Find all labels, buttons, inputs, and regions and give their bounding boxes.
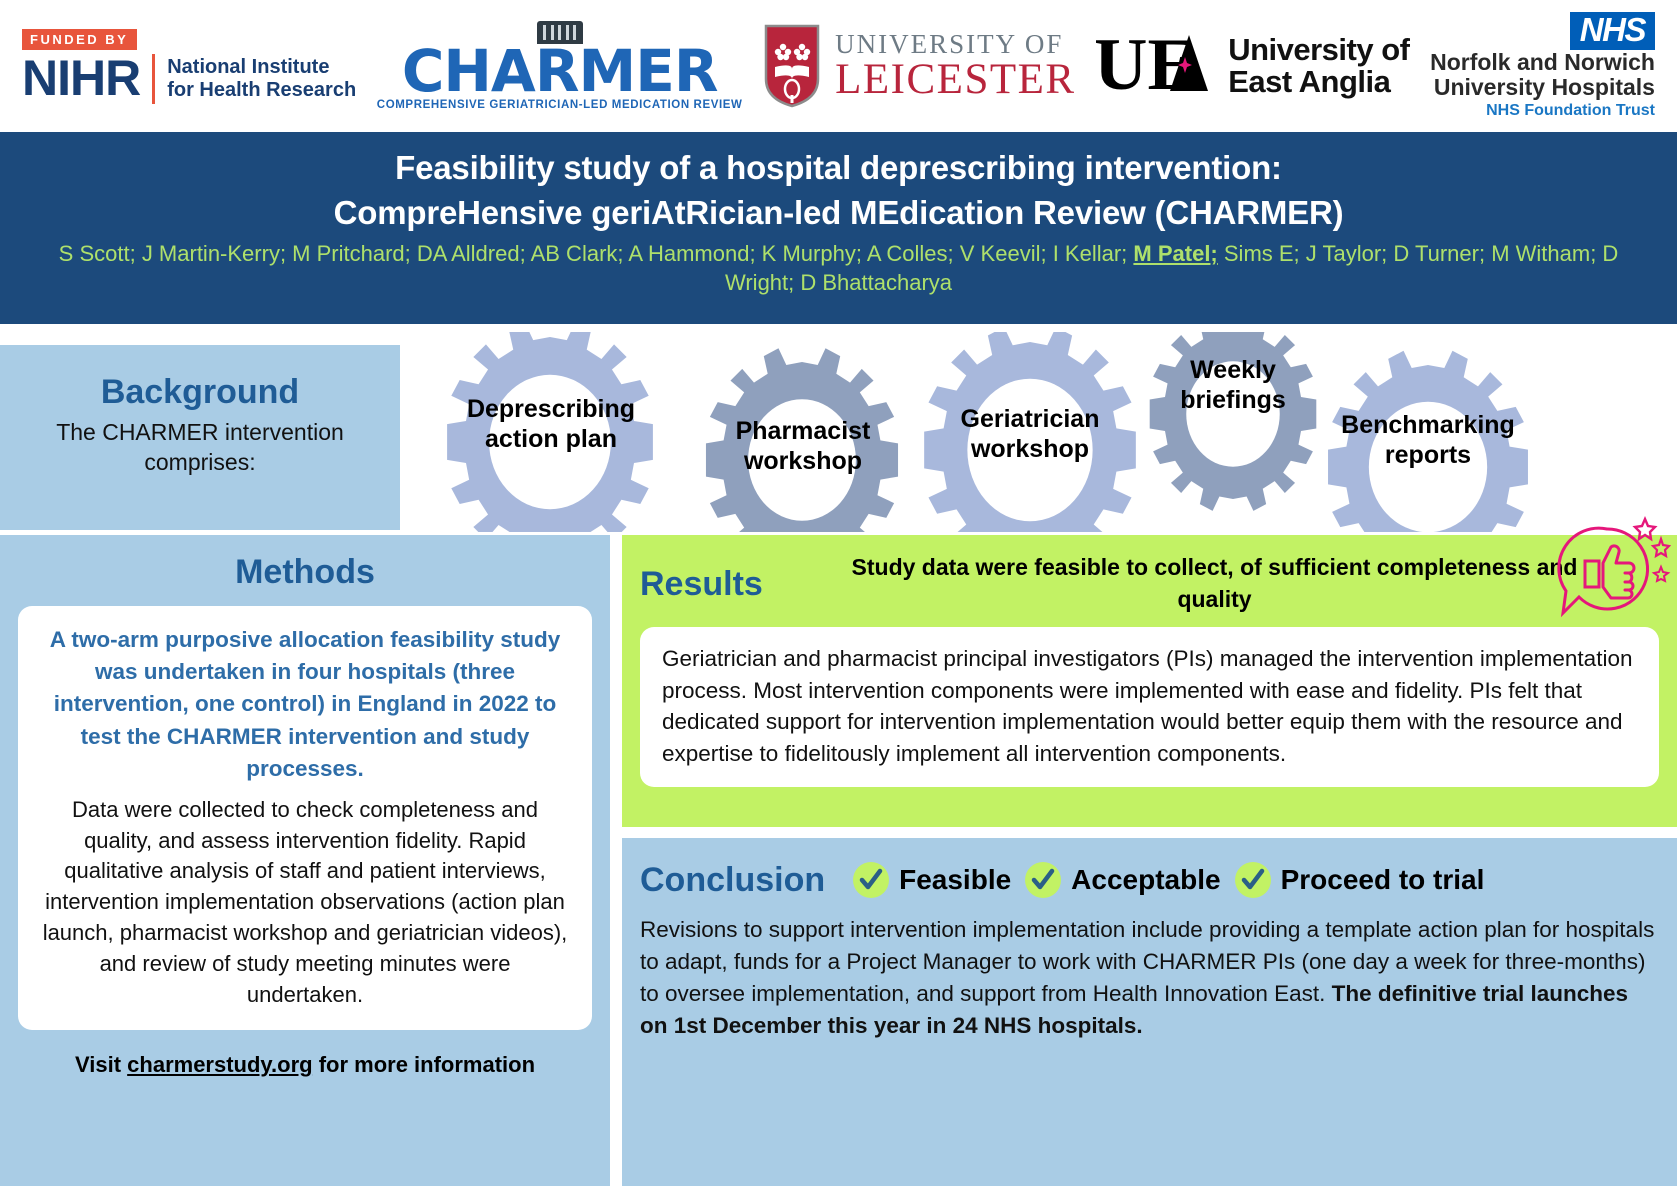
nihr-divider xyxy=(152,54,155,104)
results-tagline: Study data were feasible to collect, of … xyxy=(830,547,1659,615)
nhs-trust-line2: University Hospitals xyxy=(1434,75,1655,100)
nhs-logo: NHS Norfolk and Norwich University Hospi… xyxy=(1430,12,1655,119)
background-panel: Background The CHARMER intervention comp… xyxy=(0,345,400,530)
leicester-shield-icon xyxy=(763,23,821,109)
conclusion-chip-acceptable: Acceptable xyxy=(1023,860,1220,900)
charmer-wordmark: CHARMER xyxy=(402,45,718,97)
chip-label: Feasible xyxy=(899,864,1011,896)
gear-label-line2: reports xyxy=(1385,441,1471,469)
methods-lead-text: A two-arm purposive allocation feasibili… xyxy=(40,624,570,785)
gear-label-line1: Benchmarking xyxy=(1341,411,1515,439)
gear-label-line1: Deprescribing xyxy=(467,395,635,423)
thumbs-up-icon xyxy=(1541,505,1671,635)
gear-label-line1: Weekly xyxy=(1190,356,1276,384)
chip-label: Proceed to trial xyxy=(1281,864,1485,896)
gear-label-geriatrician: Geriatrician workshop xyxy=(930,404,1130,464)
conclusion-panel: Conclusion Feasible Acceptable xyxy=(622,838,1677,1186)
leicester-line1: UNIVERSITY OF xyxy=(835,31,1075,58)
check-circle-icon xyxy=(1233,860,1273,900)
results-header: Results Study data were feasible to coll… xyxy=(640,547,1659,615)
uea-monogram-icon: UE xyxy=(1096,29,1216,103)
conclusion-chip-proceed-to-trial: Proceed to trial xyxy=(1233,860,1485,900)
gear-label-benchmarking: Benchmarking reports xyxy=(1310,410,1546,470)
gear-label-line2: action plan xyxy=(485,425,617,453)
leicester-line2: LEICESTER xyxy=(835,58,1075,101)
chip-label: Acceptable xyxy=(1071,864,1220,896)
charmer-logo: CHARMER COMPREHENSIVE GERIATRICIAN-LED M… xyxy=(377,21,743,111)
author-highlighted: M Patel; xyxy=(1133,241,1217,266)
nihr-acronym: NIHR xyxy=(22,55,140,103)
methods-footer: Visit charmerstudy.org for more informat… xyxy=(18,1052,592,1078)
poster-title-line1: Feasibility study of a hospital deprescr… xyxy=(395,149,1282,186)
gear-label-line2: briefings xyxy=(1180,386,1286,414)
visit-prefix: Visit xyxy=(75,1052,127,1077)
nihr-logo: FUNDED BY NIHR National Institute for He… xyxy=(22,29,356,104)
intervention-gears: Deprescribing action plan Pharmacist wor… xyxy=(400,332,1677,532)
charmerstudy-link[interactable]: charmerstudy.org xyxy=(127,1052,312,1077)
nihr-name-line2: for Health Research xyxy=(167,79,356,101)
gear-label-pharmacist: Pharmacist workshop xyxy=(705,416,901,476)
gear-label-line1: Pharmacist xyxy=(736,417,871,445)
methods-card: A two-arm purposive allocation feasibili… xyxy=(18,606,592,1030)
gear-label-line1: Geriatrician xyxy=(961,405,1100,433)
conclusion-header: Conclusion Feasible Acceptable xyxy=(640,860,1659,900)
uea-line1: University of xyxy=(1228,34,1409,66)
charmer-tagline: COMPREHENSIVE GERIATRICIAN-LED MEDICATIO… xyxy=(377,99,743,111)
title-banner: Feasibility study of a hospital deprescr… xyxy=(0,132,1677,324)
nihr-name-line1: National Institute xyxy=(167,56,356,78)
nihr-funded-by-label: FUNDED BY xyxy=(22,29,137,50)
uea-line2: East Anglia xyxy=(1228,66,1409,98)
methods-panel: Methods A two-arm purposive allocation f… xyxy=(0,535,610,1186)
author-list: S Scott; J Martin-Kerry; M Pritchard; DA… xyxy=(40,239,1637,298)
methods-heading: Methods xyxy=(18,553,592,592)
results-card: Geriatrician and pharmacist principal in… xyxy=(640,627,1659,787)
nhs-badge: NHS xyxy=(1570,12,1655,50)
nhs-trust-line3: NHS Foundation Trust xyxy=(1486,102,1655,120)
check-circle-icon xyxy=(1023,860,1063,900)
background-heading: Background xyxy=(0,373,400,412)
poster: FUNDED BY NIHR National Institute for He… xyxy=(0,0,1677,1186)
leicester-logo: UNIVERSITY OF LEICESTER xyxy=(763,23,1075,109)
results-body-text: Geriatrician and pharmacist principal in… xyxy=(662,643,1637,769)
check-circle-icon xyxy=(851,860,891,900)
visit-suffix: for more information xyxy=(313,1052,535,1077)
conclusion-heading: Conclusion xyxy=(640,861,825,900)
nhs-trust-line1: Norfolk and Norwich xyxy=(1430,50,1655,75)
poster-title-line2: CompreHensive geriAtRician-led MEdicatio… xyxy=(334,194,1344,231)
background-text: The CHARMER intervention comprises: xyxy=(0,418,400,478)
methods-body-text: Data were collected to check completenes… xyxy=(40,795,570,1011)
conclusion-chip-feasible: Feasible xyxy=(851,860,1011,900)
results-panel: Results Study data were feasible to coll… xyxy=(622,535,1677,827)
logo-bar: FUNDED BY NIHR National Institute for He… xyxy=(0,0,1677,132)
results-heading: Results xyxy=(640,547,830,604)
gear-label-deprescribing: Deprescribing action plan xyxy=(446,394,656,454)
gear-label-weekly-briefings: Weekly briefings xyxy=(1148,355,1318,415)
authors-before: S Scott; J Martin-Kerry; M Pritchard; DA… xyxy=(59,241,1134,266)
gear-label-line2: workshop xyxy=(971,435,1089,463)
gear-label-line2: workshop xyxy=(744,447,862,475)
uea-logo: UE University of East Anglia xyxy=(1096,29,1409,103)
